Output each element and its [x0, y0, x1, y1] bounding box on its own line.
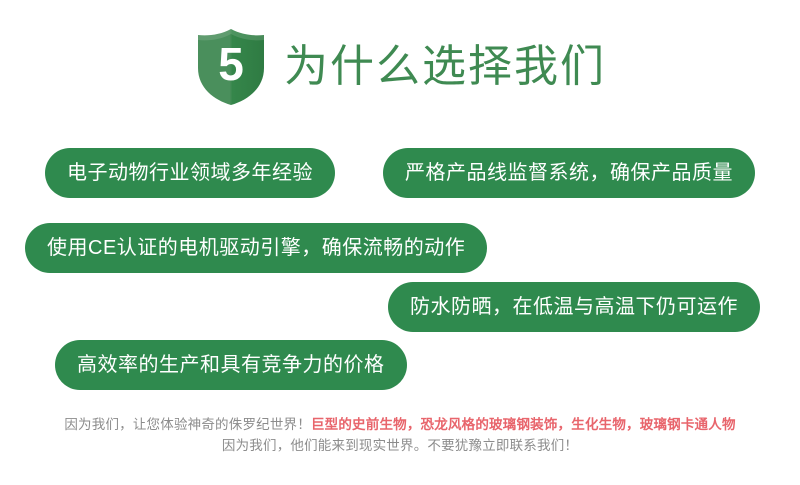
feature-pill[interactable]: 高效率的生产和具有竞争力的价格 [55, 340, 407, 390]
feature-row-4: 高效率的生产和具有竞争力的价格 [0, 340, 800, 390]
footer-line-1-highlight: 巨型的史前生物，恐龙风格的玻璃钢装饰，生化生物，玻璃钢卡通人物 [311, 417, 736, 432]
feature-pill[interactable]: 防水防晒，在低温与高温下仍可运作 [388, 282, 760, 332]
feature-row-3: 防水防晒，在低温与高温下仍可运作 [0, 282, 800, 332]
footer-text: 因为我们，让您体验神奇的侏罗纪世界！巨型的史前生物，恐龙风格的玻璃钢装饰，生化生… [0, 414, 800, 456]
footer-line-1: 因为我们，让您体验神奇的侏罗纪世界！巨型的史前生物，恐龙风格的玻璃钢装饰，生化生… [0, 414, 800, 435]
footer-line-1-prefix: 因为我们，让您体验神奇的侏罗纪世界！ [64, 417, 311, 432]
header: 5 为什么选择我们 [0, 24, 800, 110]
badge-number: 5 [194, 28, 268, 106]
feature-pill-list: 电子动物行业领域多年经验 严格产品线监督系统，确保产品质量 使用CE认证的电机驱… [0, 122, 800, 402]
feature-pill[interactable]: 严格产品线监督系统，确保产品质量 [383, 148, 755, 198]
page-title: 为什么选择我们 [284, 43, 606, 91]
footer-line-2: 因为我们，他们能来到现实世界。不要犹豫立即联系我们！ [0, 435, 800, 456]
feature-row-1: 电子动物行业领域多年经验 严格产品线监督系统，确保产品质量 [0, 148, 800, 198]
shield-badge: 5 [194, 28, 268, 106]
why-choose-us-banner: 5 为什么选择我们 电子动物行业领域多年经验 严格产品线监督系统，确保产品质量 … [0, 0, 800, 485]
feature-row-2: 使用CE认证的电机驱动引擎，确保流畅的动作 [0, 223, 800, 273]
feature-pill[interactable]: 电子动物行业领域多年经验 [45, 148, 335, 198]
feature-pill[interactable]: 使用CE认证的电机驱动引擎，确保流畅的动作 [25, 223, 487, 273]
